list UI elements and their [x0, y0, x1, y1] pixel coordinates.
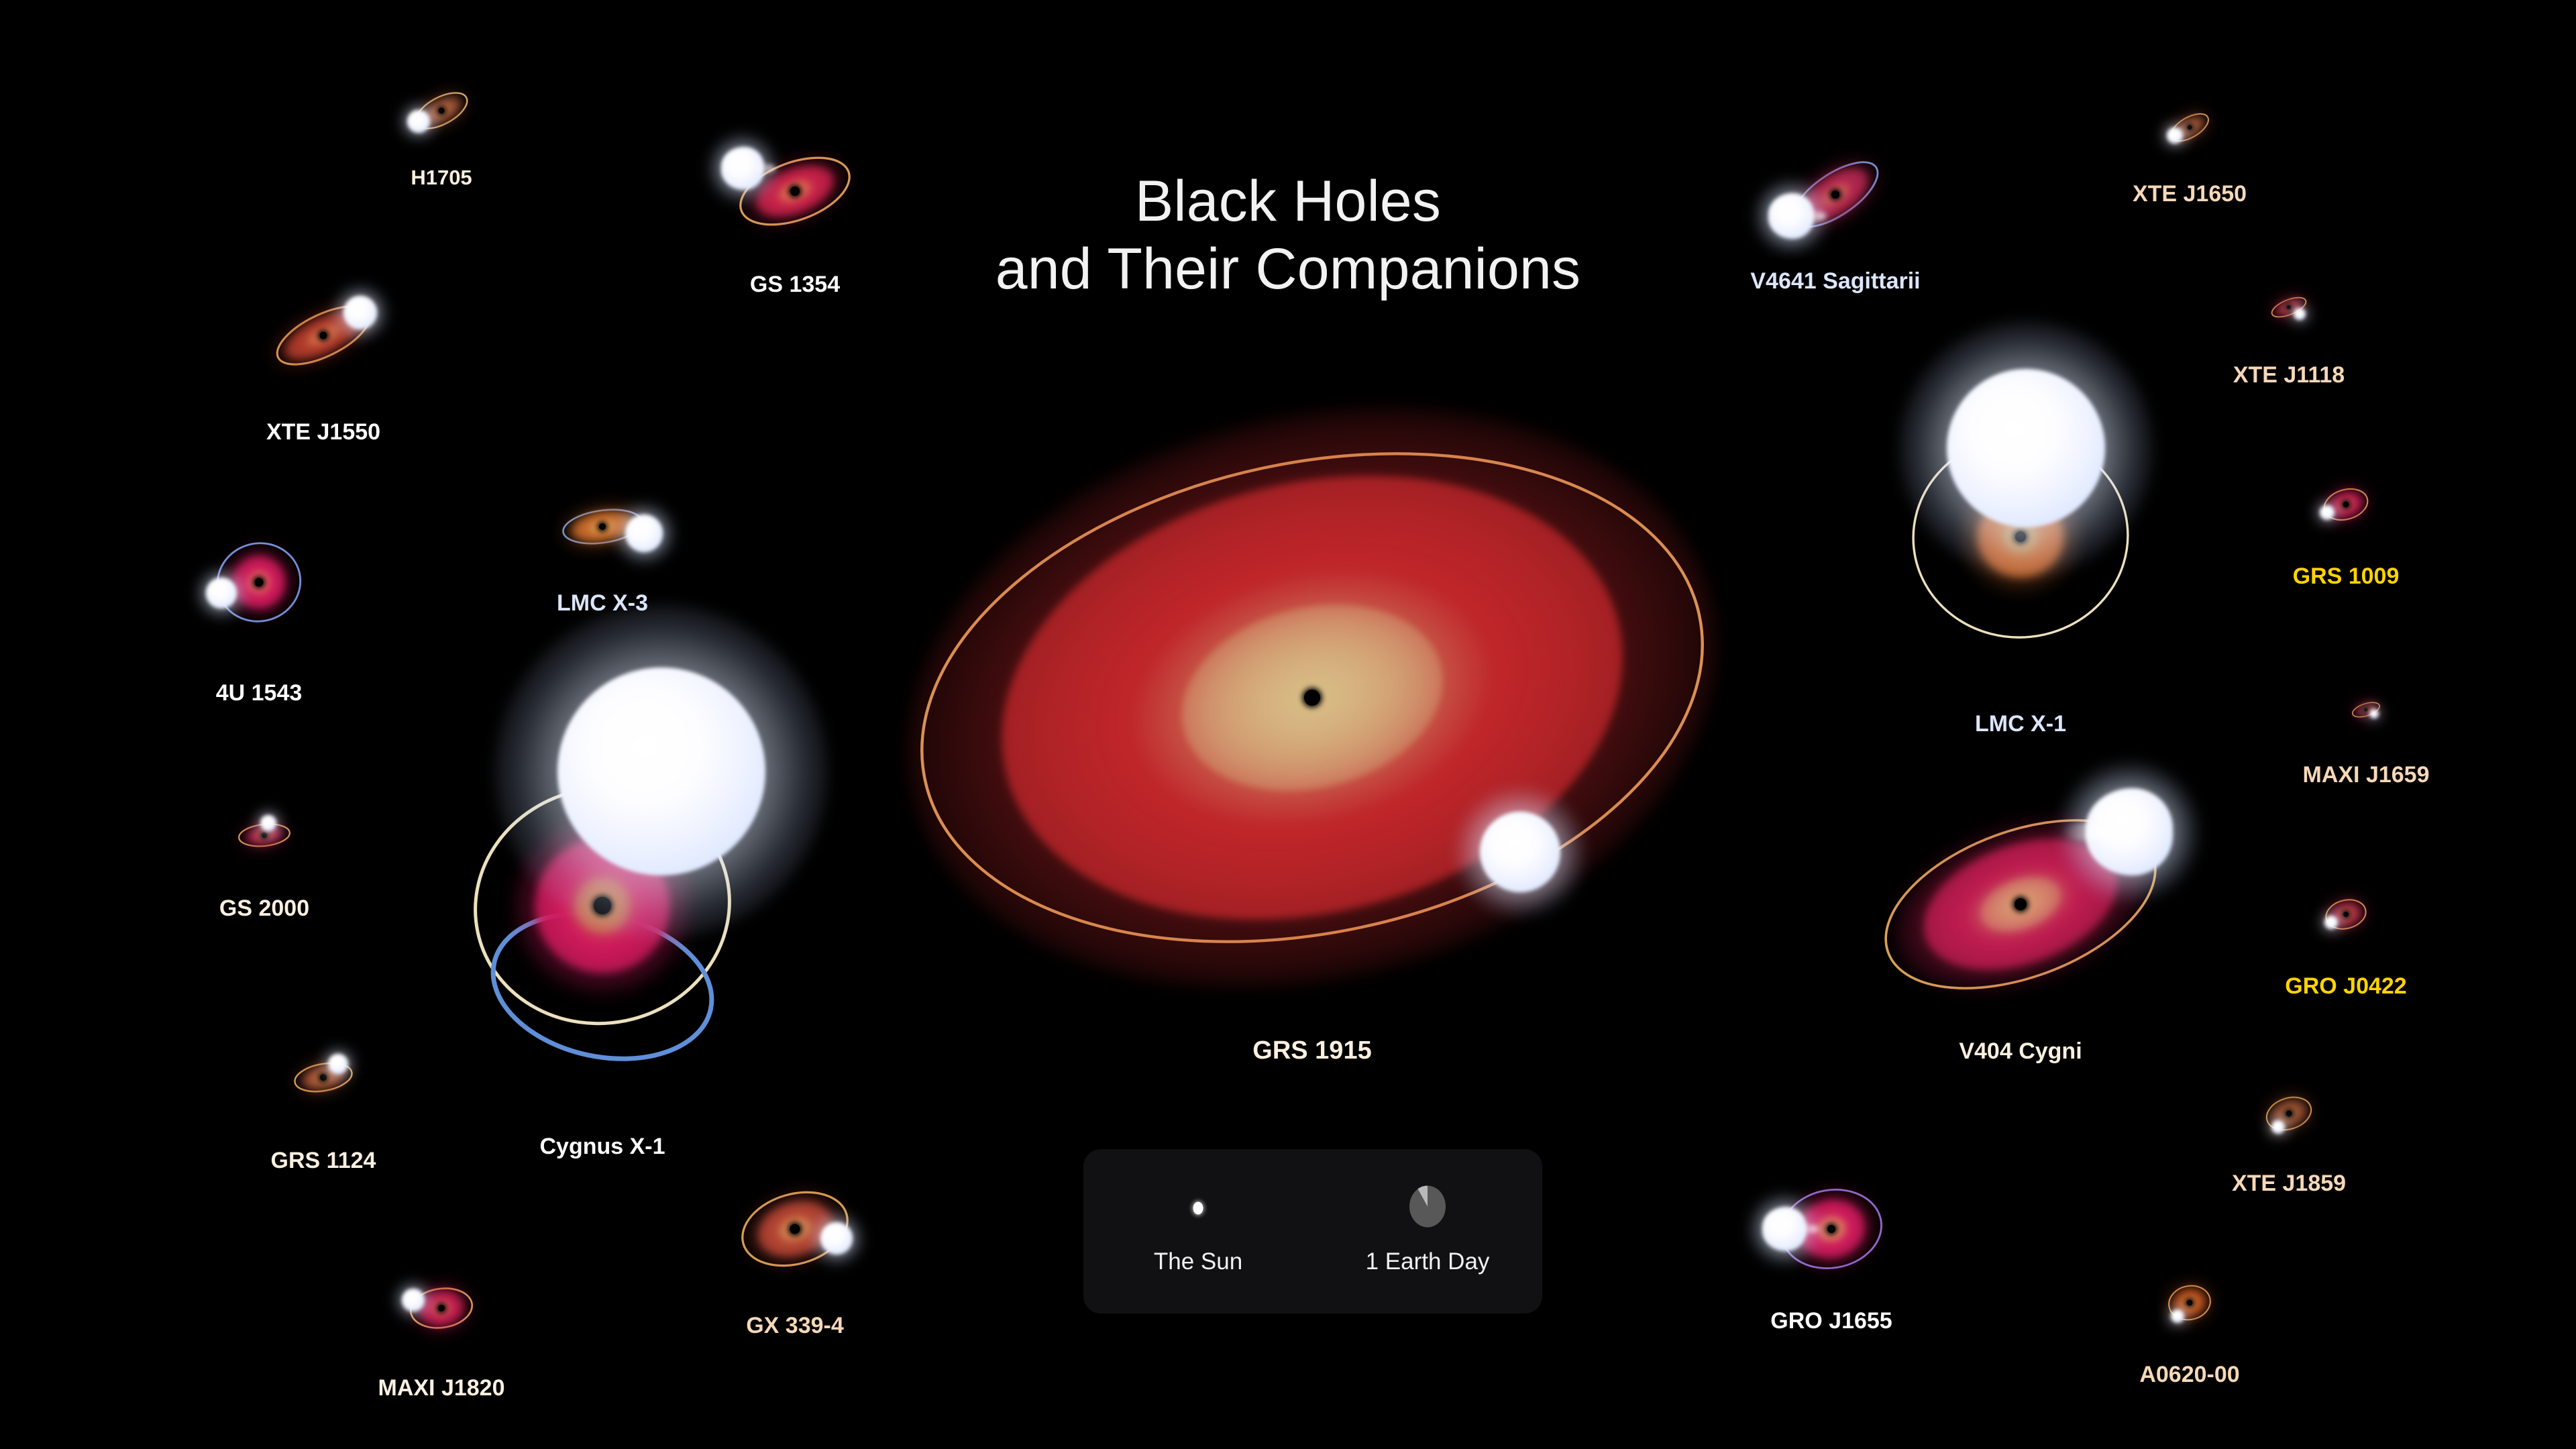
companion-star [557, 667, 765, 875]
companion-star [2320, 505, 2334, 520]
companion-star [206, 578, 237, 608]
companion-star [2271, 1120, 2285, 1134]
star-body [2294, 308, 2306, 320]
system-label: GRS 1009 [2293, 563, 2400, 590]
star-body [407, 110, 430, 133]
system-label: 4U 1543 [216, 680, 303, 706]
companion-star [260, 815, 276, 831]
accretion-stream [752, 164, 775, 173]
legend-item-the-sun: The Sun [1083, 1149, 1313, 1313]
companion-star [2324, 916, 2338, 929]
companion-star [1947, 369, 2105, 527]
star-body [1947, 369, 2105, 527]
companion-star [1480, 812, 1560, 892]
sun-dot-icon [1193, 1202, 1203, 1215]
star-body [2320, 505, 2334, 520]
system-label: GRO J0422 [2285, 973, 2406, 1000]
star-body [2324, 916, 2338, 929]
star-body [402, 1289, 425, 1311]
star-body [557, 667, 765, 875]
companion-star [2086, 788, 2173, 875]
star-body [260, 815, 276, 831]
star-body [2171, 1309, 2184, 1323]
scale-legend: The Sun 1 Earth Day [1083, 1149, 1542, 1313]
star-body [625, 515, 663, 552]
companion-star [2167, 127, 2183, 144]
companion-star [1762, 1207, 1807, 1251]
legend-label-the-sun: The Sun [1154, 1248, 1242, 1275]
companion-star [820, 1222, 853, 1254]
legend-label-earth-day: 1 Earth Day [1366, 1248, 1490, 1275]
system-label: XTE J1118 [2233, 362, 2345, 388]
star-body [206, 578, 237, 608]
companion-star [1768, 193, 1814, 239]
star-body [820, 1222, 853, 1254]
system-label: H1705 [411, 166, 472, 190]
earth-day-clock-icon [1409, 1185, 1446, 1232]
system-label: XTE J1650 [2133, 181, 2247, 207]
companion-star [2369, 709, 2379, 718]
black-hole-core [255, 578, 264, 587]
system-label: XTE J1859 [2232, 1171, 2346, 1197]
system-label: GRO J1655 [1770, 1308, 1892, 1334]
starfield-canvas: Black Holes and Their Companions H1705GS… [0, 0, 2576, 1449]
companion-star [625, 515, 663, 552]
companion-star [721, 147, 764, 190]
star-body [328, 1054, 348, 1074]
companion-star [328, 1054, 348, 1074]
companion-star [407, 110, 430, 133]
system-label: A0620-00 [2139, 1362, 2239, 1388]
system-label: V4641 Sagittarii [1750, 268, 1920, 294]
legend-item-earth-day: 1 Earth Day [1313, 1149, 1542, 1313]
star-body [2167, 127, 2183, 144]
system-label: LMC X-1 [1975, 711, 2066, 737]
accretion-stream [2061, 823, 2110, 841]
system-label: V404 Cygni [1959, 1038, 2082, 1065]
companion-star [402, 1289, 425, 1311]
system-label: GX 339-4 [746, 1313, 844, 1339]
star-body [2271, 1120, 2285, 1134]
system-label: GS 1354 [750, 272, 840, 298]
system-label: GRS 1915 [1252, 1036, 1371, 1065]
companion-star [343, 296, 377, 329]
accretion-stream [1801, 211, 1826, 221]
system-label: XTE J1550 [266, 419, 380, 445]
system-label: MAXI J1659 [2303, 762, 2430, 788]
companion-star [2294, 308, 2306, 320]
star-body [1480, 812, 1560, 892]
star-body [343, 296, 377, 329]
system-label: Cygnus X-1 [539, 1134, 665, 1160]
system-label: MAXI J1820 [378, 1375, 505, 1401]
system-label: GRS 1124 [271, 1148, 376, 1174]
star-body [2369, 709, 2379, 718]
companion-star [2171, 1309, 2184, 1323]
system-label: GS 2000 [219, 896, 309, 922]
